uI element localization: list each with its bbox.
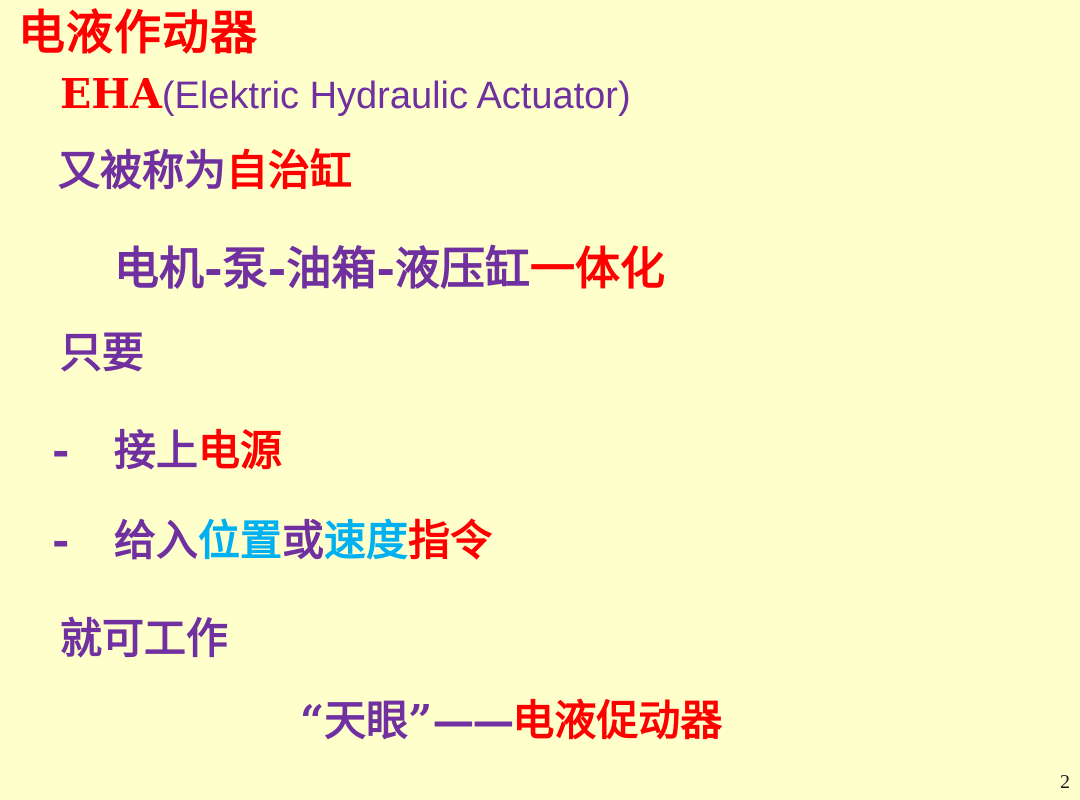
footer-em-dash: ——	[432, 696, 512, 745]
integration-components: 电机-泵-油箱-液压缸	[114, 242, 530, 295]
alias-prefix: 又被称为	[58, 146, 226, 195]
bullet-command-prefix: 给入	[114, 516, 198, 565]
slide-subtitle: EHA(Elektric Hydraulic Actuator)	[60, 74, 631, 115]
bullet-power-prefix: 接上	[114, 426, 198, 475]
bullet-command-term-speed: 速度	[324, 516, 408, 565]
page-number: 2	[1060, 771, 1070, 794]
bullet-item-command: -给入位置或速度指令	[52, 520, 492, 562]
footer-quoted-name: “天眼”	[300, 696, 432, 745]
integration-emphasis: 一体化	[530, 242, 665, 295]
result-label: 就可工作	[60, 618, 228, 660]
alias-term: 自治缸	[226, 146, 352, 195]
bullet-command-conjunction: 或	[282, 516, 324, 565]
footer-target-term: 电液促动器	[512, 696, 722, 745]
condition-label: 只要	[60, 332, 144, 374]
bullet-item-power: -接上电源	[52, 430, 282, 472]
abbreviation-eha: EHA	[60, 70, 162, 118]
abbreviation-expansion: (Elektric Hydraulic Actuator)	[162, 75, 631, 117]
integration-line: 电机-泵-油箱-液压缸一体化	[114, 246, 665, 291]
bullet-command-term-position: 位置	[198, 516, 282, 565]
bullet-command-suffix: 指令	[408, 516, 492, 565]
alias-line: 又被称为自治缸	[58, 150, 352, 192]
bullet-dash-icon: -	[52, 430, 114, 472]
footer-quote-line: “天眼”——电液促动器	[300, 700, 722, 742]
bullet-power-highlight: 电源	[198, 426, 282, 475]
slide-canvas: 电液作动器 EHA(Elektric Hydraulic Actuator) 又…	[0, 0, 1080, 800]
slide-title: 电液作动器	[18, 10, 258, 57]
bullet-dash-icon: -	[52, 520, 114, 562]
